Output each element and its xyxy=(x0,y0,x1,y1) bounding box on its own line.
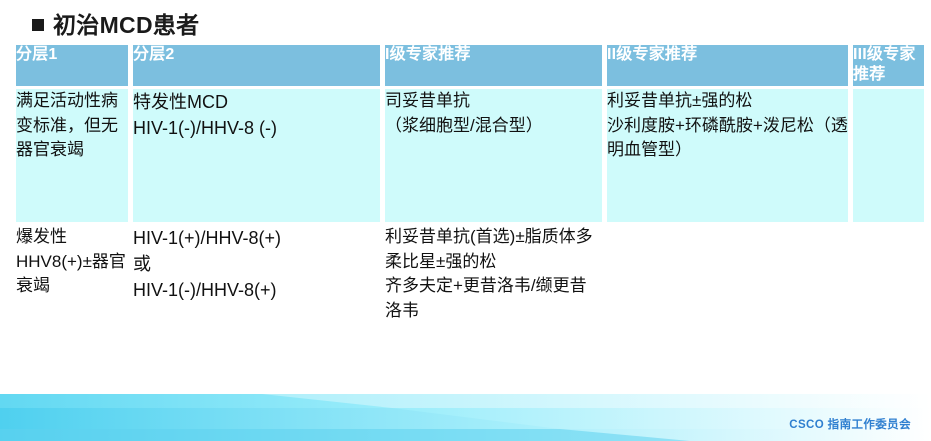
decorative-shapes xyxy=(0,381,931,441)
cell-stratum1: 爆发性HHV8(+)±器官衰竭 xyxy=(16,225,128,363)
recommendation-table-wrapper: 分层1 分层2 I级专家推荐 II级专家推荐 III级专家推荐 满足活动性病变标… xyxy=(16,45,924,363)
cell-level2 xyxy=(607,225,848,363)
table-body: 满足活动性病变标准，但无器官衰竭 特发性MCD HIV-1(-)/HHV-8 (… xyxy=(16,89,924,363)
column-header-stratum2: 分层2 xyxy=(133,45,380,86)
column-header-stratum1: 分层1 xyxy=(16,45,128,86)
column-header-level2: II级专家推荐 xyxy=(607,45,848,86)
recommendation-table: 分层1 分层2 I级专家推荐 II级专家推荐 III级专家推荐 满足活动性病变标… xyxy=(11,42,929,366)
cell-level3 xyxy=(853,225,924,363)
column-header-level3: III级专家推荐 xyxy=(853,45,924,86)
table-row: 满足活动性病变标准，但无器官衰竭 特发性MCD HIV-1(-)/HHV-8 (… xyxy=(16,89,924,222)
cell-stratum2: HIV-1(+)/HHV-8(+) 或 HIV-1(-)/HHV-8(+) xyxy=(133,225,380,363)
table-row: 爆发性HHV8(+)±器官衰竭 HIV-1(+)/HHV-8(+) 或 HIV-… xyxy=(16,225,924,363)
page-title-text: 初治MCD患者 xyxy=(53,12,199,38)
cell-level2: 利妥昔单抗±强的松 沙利度胺+环磷酰胺+泼尼松（透明血管型） xyxy=(607,89,848,222)
cell-level3 xyxy=(853,89,924,222)
column-header-level1: I级专家推荐 xyxy=(385,45,602,86)
square-bullet-icon xyxy=(32,19,44,31)
cell-stratum2: 特发性MCD HIV-1(-)/HHV-8 (-) xyxy=(133,89,380,222)
table-header: 分层1 分层2 I级专家推荐 II级专家推荐 III级专家推荐 xyxy=(16,45,924,86)
page-title: 初治MCD患者 xyxy=(32,6,199,40)
cell-level1: 司妥昔单抗 （浆细胞型/混合型） xyxy=(385,89,602,222)
table-header-row: 分层1 分层2 I级专家推荐 II级专家推荐 III级专家推荐 xyxy=(16,45,924,86)
decorative-bottom-band xyxy=(0,381,931,441)
footer-brand: CSCO 指南工作委员会 xyxy=(789,416,911,432)
cell-level1: 利妥昔单抗(首选)±脂质体多柔比星±强的松 齐多夫定+更昔洛韦/缬更昔洛韦 xyxy=(385,225,602,363)
cell-stratum1: 满足活动性病变标准，但无器官衰竭 xyxy=(16,89,128,222)
